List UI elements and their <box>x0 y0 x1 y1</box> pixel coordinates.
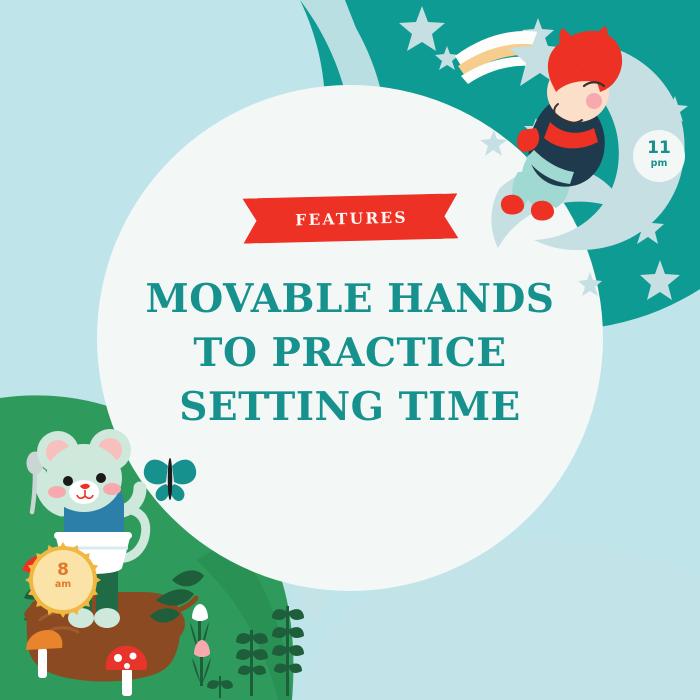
shoe <box>94 608 120 628</box>
badge-night-period: pm <box>639 159 679 169</box>
cheek <box>586 93 602 109</box>
badge-morning-label: 8 am <box>42 562 84 590</box>
badge-morning-hour: 8 <box>42 562 84 579</box>
cheek <box>103 483 121 495</box>
page-title: MOVABLE HANDS TO PRACTICE SETTING TIME <box>90 272 610 434</box>
cheek <box>48 486 66 498</box>
headline-line-1: MOVABLE HANDS <box>90 272 610 326</box>
badge-night-hour: 11 <box>639 140 679 157</box>
ribbon-label: FEATURES <box>242 193 458 243</box>
eye <box>96 473 106 483</box>
badge-morning-period: am <box>42 580 84 590</box>
poster-canvas: FEATURES MOVABLE HANDS TO PRACTICE SETTI… <box>0 0 700 700</box>
headline-line-3: SETTING TIME <box>90 380 610 434</box>
features-ribbon: FEATURES <box>242 193 458 246</box>
eye <box>63 476 73 486</box>
mouse-muzzle <box>69 480 99 504</box>
headline-line-2: TO PRACTICE <box>90 326 610 380</box>
badge-night-label: 11 pm <box>639 140 679 169</box>
